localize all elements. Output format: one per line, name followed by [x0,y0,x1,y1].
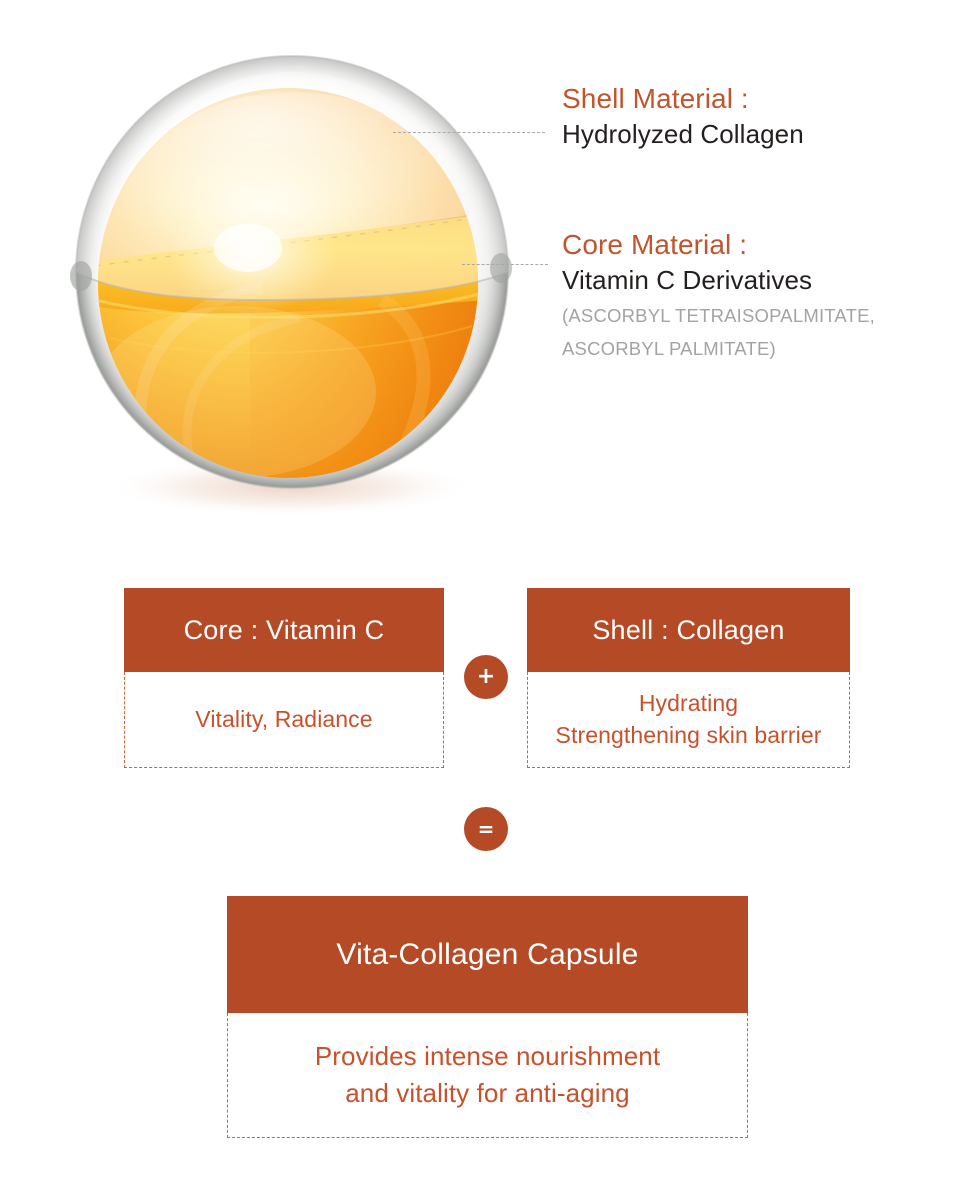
core-material-value: Vitamin C Derivatives [562,264,875,298]
equation-box-shell-body-line-1: Hydrating [556,688,822,720]
equals-operator-badge: = [464,807,508,851]
core-material-note-line-2: ASCORBYL PALMITATE) [562,335,875,364]
equation-box-shell-header: Shell : Collagen [527,588,850,672]
leader-line-core-material [462,264,548,265]
leader-line-shell-material [393,132,545,133]
equation-box-core: Core : Vitamin C Vitality, Radiance [124,588,444,768]
callout-shell-material: Shell Material : Hydrolyzed Collagen [562,82,804,152]
equation-box-core-body: Vitality, Radiance [124,672,444,768]
equation-box-result-body-line-1: Provides intense nourishment [315,1038,660,1075]
plus-operator-badge: + [464,655,508,699]
equation-box-result: Vita-Collagen Capsule Provides intense n… [227,896,748,1138]
equals-icon: = [478,819,495,839]
equation-box-shell: Shell : Collagen Hydrating Strengthening… [527,588,850,768]
equation-box-shell-body-line-2: Strengthening skin barrier [556,720,822,752]
core-material-heading: Core Material : [562,228,875,262]
core-lower-glow [96,306,376,478]
shell-material-heading: Shell Material : [562,82,804,116]
equation-box-result-body: Provides intense nourishment and vitalit… [227,1013,748,1138]
equation-box-core-body-line-1: Vitality, Radiance [195,704,372,736]
equation-box-core-header: Core : Vitamin C [124,588,444,672]
callout-core-material: Core Material : Vitamin C Derivatives (A… [562,228,875,363]
equation-box-result-body-line-2: and vitality for anti-aging [315,1075,660,1112]
equation-box-shell-body: Hydrating Strengthening skin barrier [527,672,850,768]
core-material-note-line-1: (ASCORBYL TETRAISOPALMITATE, [562,302,875,331]
shell-material-value: Hydrolyzed Collagen [562,118,804,152]
shell-tab-right [490,253,512,283]
equation-box-result-header: Vita-Collagen Capsule [227,896,748,1013]
shell-tab-left [70,261,92,291]
plus-icon: + [477,666,495,688]
